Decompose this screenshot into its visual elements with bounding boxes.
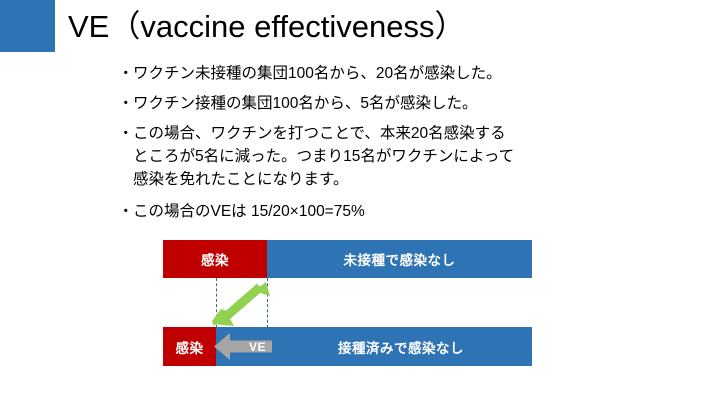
bullet-line: ところが5名に減った。つまり15名がワクチンによって bbox=[133, 145, 658, 168]
bullet-line: ワクチン未接種の集団100名から、20名が感染した。 bbox=[133, 62, 658, 85]
list-item: ・ ワクチン接種の集団100名から、5名が感染した。 bbox=[118, 92, 658, 115]
bullet-line: 感染を免れたことになります。 bbox=[133, 168, 658, 191]
segment-label: 未接種で感染なし bbox=[344, 249, 456, 269]
bullet-text: この場合のVEは 15/20×100=75% bbox=[133, 200, 658, 223]
list-item: ・ この場合、ワクチンを打つことで、本来20名感染する ところが5名に減った。つ… bbox=[118, 122, 658, 191]
bullet-line: この場合、ワクチンを打つことで、本来20名感染する bbox=[133, 122, 658, 145]
bullet-marker: ・ bbox=[118, 62, 133, 85]
bar-segment-infected-unvaccinated: 感染 bbox=[163, 240, 267, 278]
bullet-list: ・ ワクチン未接種の集団100名から、20名が感染した。 ・ ワクチン接種の集団… bbox=[118, 62, 658, 230]
slide-canvas: VE（vaccine effectiveness） ・ ワクチン未接種の集団10… bbox=[0, 0, 720, 405]
bullet-text: ワクチン接種の集団100名から、5名が感染した。 bbox=[133, 92, 658, 115]
bullet-marker: ・ bbox=[118, 92, 133, 115]
bar-unvaccinated: 感染 未接種で感染なし bbox=[163, 240, 532, 278]
bullet-marker: ・ bbox=[118, 122, 133, 145]
segment-label: 感染 bbox=[201, 249, 229, 269]
bar-segment-safe-unvaccinated: 未接種で感染なし bbox=[267, 240, 532, 278]
bullet-text: この場合、ワクチンを打つことで、本来20名感染する ところが5名に減った。つまり… bbox=[133, 122, 658, 191]
title-accent-bar bbox=[0, 0, 55, 52]
list-item: ・ ワクチン未接種の集団100名から、20名が感染した。 bbox=[118, 62, 658, 85]
segment-label: 感染 bbox=[176, 337, 204, 357]
bullet-text: ワクチン未接種の集団100名から、20名が感染した。 bbox=[133, 62, 658, 85]
bullet-line: この場合のVEは 15/20×100=75% bbox=[133, 200, 658, 223]
ve-gray-arrow-icon bbox=[214, 331, 272, 362]
bar-segment-infected-vaccinated: 感染 bbox=[163, 327, 216, 366]
bullet-marker: ・ bbox=[118, 200, 133, 223]
bullet-line: ワクチン接種の集団100名から、5名が感染した。 bbox=[133, 92, 658, 115]
page-title: VE（vaccine effectiveness） bbox=[68, 4, 698, 50]
list-item: ・ この場合のVEは 15/20×100=75% bbox=[118, 200, 658, 223]
green-reduction-arrow-icon bbox=[210, 278, 272, 328]
segment-label: 接種済みで感染なし bbox=[284, 337, 464, 357]
